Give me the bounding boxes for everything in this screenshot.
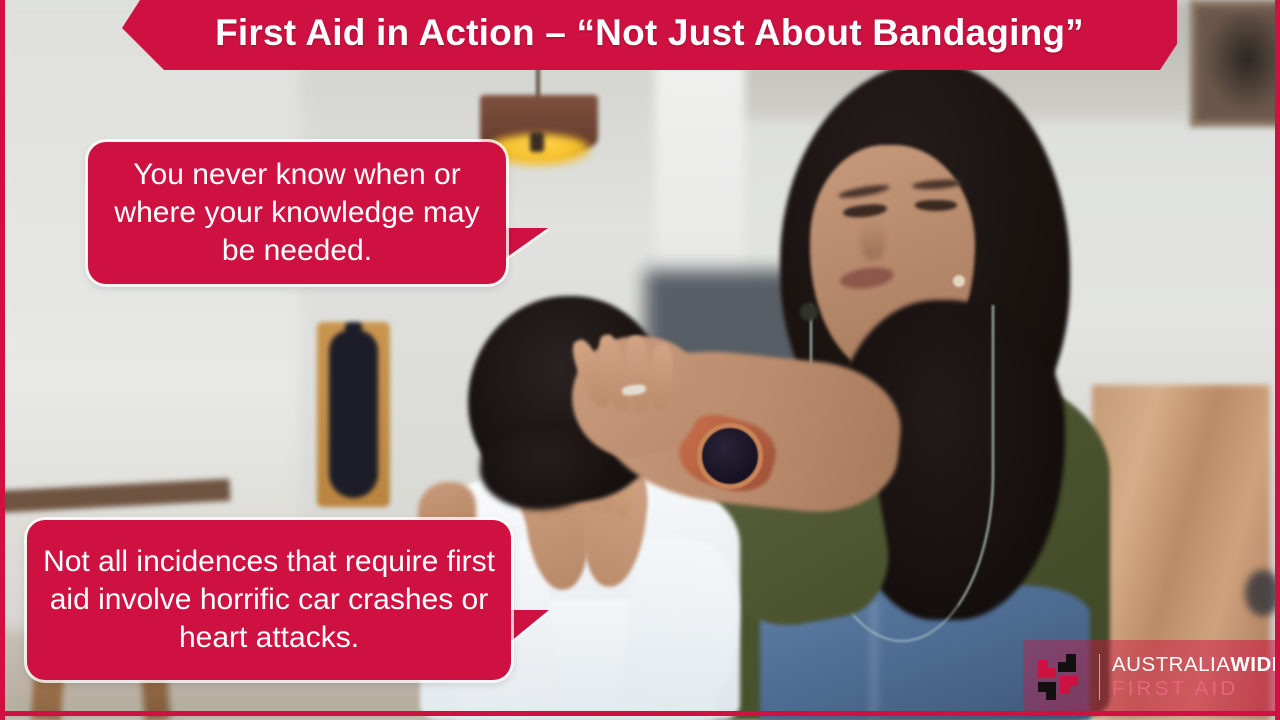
woman-necklace-pendant xyxy=(800,303,818,321)
logo-line-1: AUSTRALIAWIDE xyxy=(1112,655,1275,676)
callout-text-bottom: Not all incidences that require first ai… xyxy=(43,543,495,656)
wall-board-decor xyxy=(317,322,390,507)
page-title: First Aid in Action – “Not Just About Ba… xyxy=(215,12,1084,54)
bubble-tail-top xyxy=(500,228,548,284)
logo-divider xyxy=(1099,654,1100,700)
woman-earring xyxy=(953,275,965,287)
frame-border-left xyxy=(0,0,5,720)
woman-nose xyxy=(861,222,885,260)
callout-text-top: You never know when or where your knowle… xyxy=(106,156,488,269)
woman-eye-right xyxy=(915,200,957,211)
australia-wide-first-aid-logo-icon xyxy=(1035,651,1087,703)
callout-bubble-bottom: Not all incidences that require first ai… xyxy=(27,520,511,680)
logo-bar: AUSTRALIAWIDE FIRST AID xyxy=(1023,640,1275,714)
frame-border-right xyxy=(1275,0,1280,720)
slide-canvas: First Aid in Action – “Not Just About Ba… xyxy=(0,0,1280,720)
logo-australia-text: AUSTRALIA xyxy=(1112,653,1230,676)
title-banner: First Aid in Action – “Not Just About Ba… xyxy=(122,0,1177,70)
logo-wide-text: WIDE xyxy=(1230,653,1275,676)
frame-border-bottom xyxy=(0,711,1280,716)
callout-bubble-top: You never know when or where your knowle… xyxy=(88,142,506,284)
framed-picture xyxy=(1190,0,1280,127)
pendant-lamp-bulb xyxy=(530,132,544,152)
woman-watch-face xyxy=(697,423,763,489)
bubble-tail-bottom xyxy=(505,610,549,670)
logo-line-2: FIRST AID xyxy=(1112,679,1275,700)
logo-wordmark: AUSTRALIAWIDE FIRST AID xyxy=(1112,655,1275,700)
